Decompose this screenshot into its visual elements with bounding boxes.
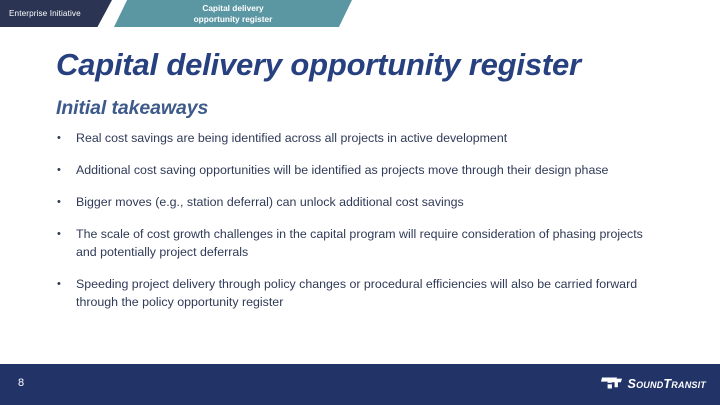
- header-tag-enterprise-initiative-label: Enterprise Initiative: [0, 9, 81, 18]
- header-tag-topic-line-1: Capital delivery: [202, 3, 263, 14]
- footer-bar: 8 SoundTransit: [0, 364, 720, 405]
- list-item-text: Additional cost saving opportunities wil…: [76, 161, 665, 179]
- list-item: • The scale of cost growth challenges in…: [55, 225, 665, 261]
- list-item-text: Real cost savings are being identified a…: [76, 129, 665, 147]
- brand-wordmark: SoundTransit: [628, 377, 707, 391]
- header-tag-enterprise-initiative: Enterprise Initiative: [0, 0, 112, 27]
- bullet-icon: •: [55, 193, 76, 211]
- sound-transit-t-mark-icon: [601, 375, 623, 392]
- page-title: Capital delivery opportunity register: [56, 47, 581, 83]
- bullet-icon: •: [55, 129, 76, 147]
- bullet-icon: •: [55, 225, 76, 243]
- takeaways-list: • Real cost savings are being identified…: [55, 129, 665, 325]
- list-item: • Speeding project delivery through poli…: [55, 275, 665, 311]
- list-item: • Real cost savings are being identified…: [55, 129, 665, 147]
- brand-logo: SoundTransit: [601, 375, 707, 392]
- bullet-icon: •: [55, 161, 76, 179]
- list-item-text: Speeding project delivery through policy…: [76, 275, 665, 311]
- page-subtitle: Initial takeaways: [56, 97, 208, 120]
- list-item: • Bigger moves (e.g., station deferral) …: [55, 193, 665, 211]
- header-tag-topic-line-2: opportunity register: [194, 14, 273, 25]
- header-tag-topic: Capital delivery opportunity register: [114, 0, 352, 27]
- list-item-text: Bigger moves (e.g., station deferral) ca…: [76, 193, 665, 211]
- list-item-text: The scale of cost growth challenges in t…: [76, 225, 665, 261]
- list-item: • Additional cost saving opportunities w…: [55, 161, 665, 179]
- bullet-icon: •: [55, 275, 76, 293]
- header-banner: Enterprise Initiative Capital delivery o…: [0, 0, 720, 27]
- page-number: 8: [18, 377, 24, 389]
